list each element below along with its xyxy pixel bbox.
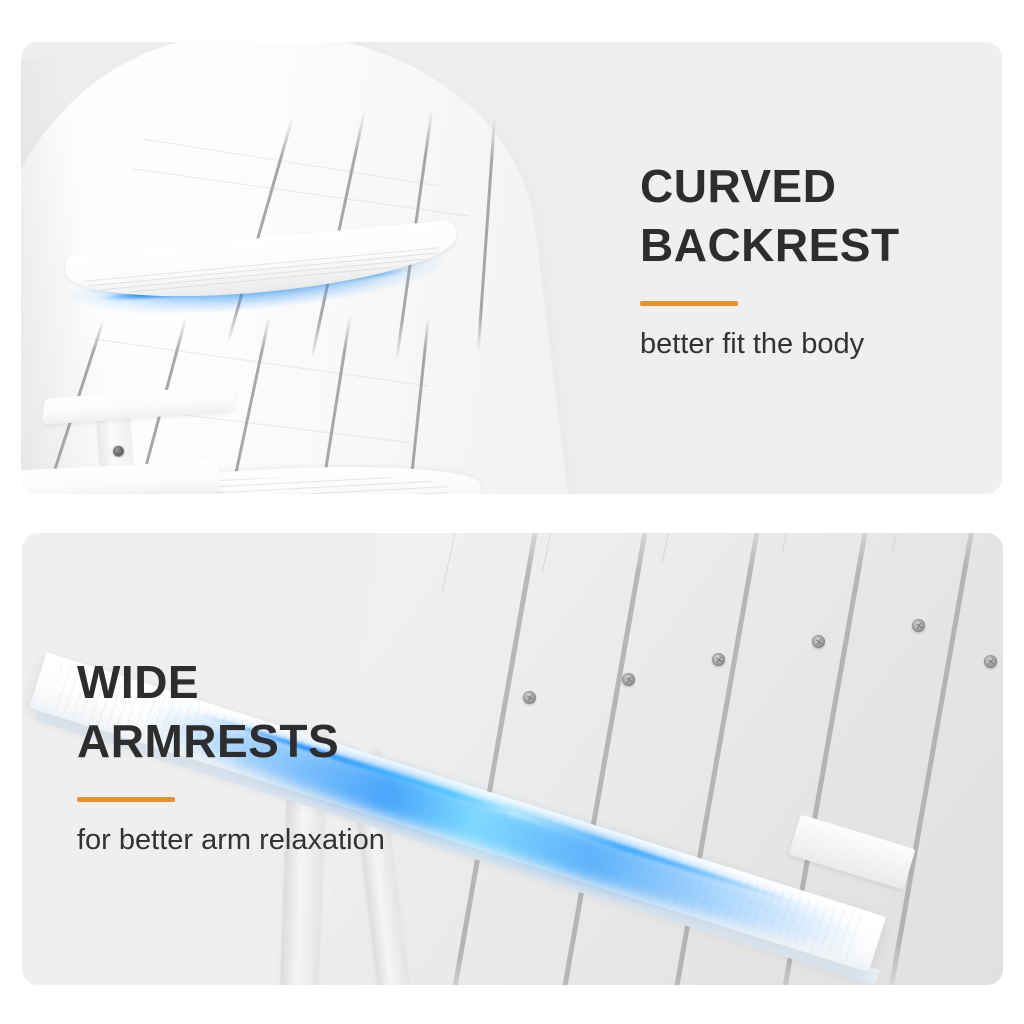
chair-back-slats-slab (311, 533, 1003, 985)
screw-head (523, 691, 536, 704)
feature-subtitle: for better arm relaxation (77, 824, 385, 857)
feature-panel-wide-armrests: WIDE ARMRESTS for better arm relaxation (22, 533, 1003, 985)
feature-panel-curved-backrest: CURVED BACKREST better fit the body (21, 42, 1002, 494)
accent-divider (640, 301, 738, 306)
feature-title-line-2: ARMRESTS (77, 712, 385, 771)
screw-head (622, 673, 635, 686)
feature-text-curved-backrest: CURVED BACKREST better fit the body (640, 157, 900, 361)
screw-head (984, 655, 997, 668)
product-feature-collage: CURVED BACKREST better fit the body (0, 0, 1024, 1024)
feature-title-line-2: BACKREST (640, 216, 900, 275)
feature-title-line-1: WIDE (77, 653, 385, 712)
screw-head (712, 653, 725, 666)
feature-text-wide-armrests: WIDE ARMRESTS for better arm relaxation (77, 653, 385, 857)
accent-divider (77, 797, 175, 802)
feature-subtitle: better fit the body (640, 328, 900, 361)
feature-title-line-1: CURVED (640, 157, 900, 216)
screw-head (113, 446, 124, 457)
screw-head (812, 635, 825, 648)
screw-head (912, 619, 925, 632)
